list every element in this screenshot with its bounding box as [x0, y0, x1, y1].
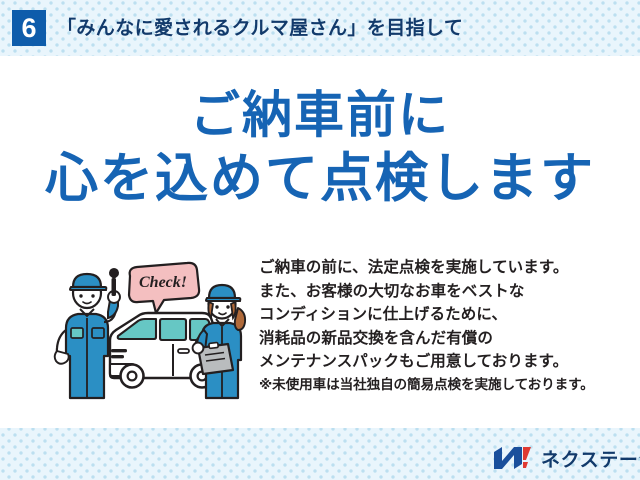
mechanics-illustration: Check! [52, 256, 262, 406]
header-band: 6 「みんなに愛されるクルマ屋さん」を目指して [0, 0, 640, 56]
body-line: 消耗品の新品交換を含んだ有償の [259, 327, 619, 351]
male-mechanic-figure [55, 268, 120, 398]
check-speech-bubble: Check! [129, 263, 199, 313]
section-number-badge: 6 [12, 10, 46, 46]
nextage-logo: ネクステージ [492, 443, 640, 473]
headline-line-2: 心を込めて点検します [0, 152, 640, 205]
body-line: ご納車の前に、法定点検を実施しています。 [259, 256, 619, 280]
body-line: メンテナンスパックもご用意しております。 [259, 350, 619, 374]
advertisement-page: 6 「みんなに愛されるクルマ屋さん」を目指して ご納車前に 心を込めて点検します [0, 0, 640, 480]
body-note: ※未使用車は当社独自の簡易点検を実施しております。 [259, 374, 619, 396]
nextage-n-mark [492, 445, 534, 471]
content-panel: ご納車前に 心を込めて点検します [0, 56, 640, 428]
check-bubble-text: Check! [139, 274, 187, 291]
body-line: コンディションに仕上げるために、 [259, 303, 619, 327]
header-title: 「みんなに愛されるクルマ屋さん」を目指して [57, 13, 463, 40]
page-title: ご納車前に 心を込めて点検します [0, 90, 640, 205]
body-copy: ご納車の前に、法定点検を実施しています。 また、お客様の大切なお車をベストな コ… [259, 256, 619, 396]
body-line: また、お客様の大切なお車をベストな [259, 280, 619, 304]
headline-line-1: ご納車前に [0, 90, 640, 140]
brand-name: ネクステージ [541, 445, 640, 472]
